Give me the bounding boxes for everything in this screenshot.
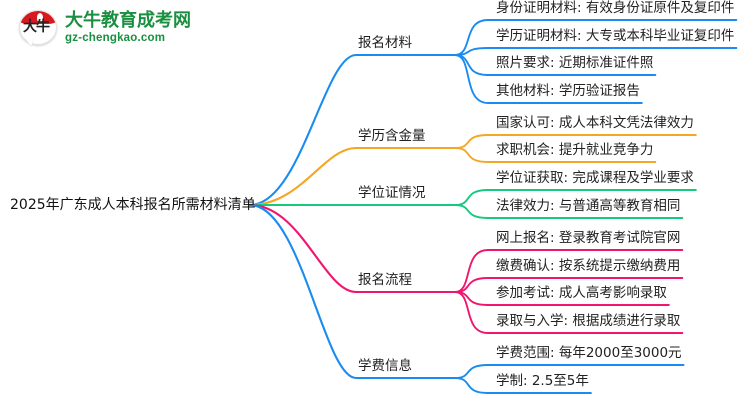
leaf-node-4-3[interactable]: 参加考试: 成人高考影响录取 [496, 286, 667, 301]
leaf-node-5-1[interactable]: 学费范围: 每年2000至3000元 [496, 346, 682, 361]
leaf-node-1-2[interactable]: 学历证明材料: 大专或本科毕业证复印件 [496, 29, 734, 44]
leaf-node-1-1[interactable]: 身份证明材料: 有效身份证原件及复印件 [496, 1, 734, 16]
brand-name-cn: 大牛教育成考网 [65, 11, 191, 31]
leaf-node-2-2[interactable]: 求职机会: 提升就业竞争力 [496, 143, 653, 158]
speech-bubble-tail [25, 38, 34, 46]
mindmap-edge [455, 292, 488, 333]
brand-domain: gz-chengkao.com [65, 31, 191, 45]
branch-node-2[interactable]: 学历含金量 [358, 129, 426, 144]
mindmap-edge [455, 190, 488, 205]
leaf-node-1-4[interactable]: 其他材料: 学历验证报告 [496, 84, 640, 99]
branch-node-3[interactable]: 学位证情况 [358, 186, 426, 201]
branch-node-5[interactable]: 学费信息 [358, 359, 412, 374]
root-node[interactable]: 2025年广东成人本科报名所需材料清单 [10, 197, 256, 213]
mindmap-canvas: 大牛 大牛教育成考网 gz-chengkao.com 2025年广东成人本科报名… [0, 0, 750, 410]
mindmap-edge [455, 135, 488, 148]
site-logo[interactable]: 大牛 大牛教育成考网 gz-chengkao.com [18, 8, 191, 48]
mindmap-edge [455, 250, 488, 292]
leaf-node-4-2[interactable]: 缴费确认: 按系统提示缴纳费用 [496, 259, 680, 274]
branch-node-1[interactable]: 报名材料 [358, 36, 412, 51]
mindmap-edge [455, 55, 488, 75]
mindmap-edge [455, 378, 488, 393]
leaf-node-5-2[interactable]: 学制: 2.5至5年 [496, 374, 589, 389]
branch-node-4[interactable]: 报名流程 [358, 273, 412, 288]
mindmap-edge [455, 365, 488, 378]
mindmap-edge [455, 55, 488, 103]
leaf-node-1-3[interactable]: 照片要求: 近期标准证件照 [496, 56, 653, 71]
mindmap-edge [455, 48, 488, 55]
mindmap-edge [455, 148, 488, 162]
logo-mark-label: 大牛 [18, 20, 54, 35]
leaf-node-4-4[interactable]: 录取与入学: 根据成绩进行录取 [496, 314, 680, 329]
leaf-node-3-2[interactable]: 法律效力: 与普通高等教育相同 [496, 199, 680, 214]
mindmap-edge [250, 205, 455, 292]
leaf-node-3-1[interactable]: 学位证获取: 完成课程及学业要求 [496, 171, 694, 186]
brand-text-block: 大牛教育成考网 gz-chengkao.com [65, 11, 191, 45]
leaf-node-4-1[interactable]: 网上报名: 登录教育考试院官网 [496, 231, 680, 246]
leaf-node-2-1[interactable]: 国家认可: 成人本科文凭法律效力 [496, 116, 694, 131]
logo-mark-icon: 大牛 [18, 8, 58, 48]
mindmap-edge [455, 205, 488, 218]
